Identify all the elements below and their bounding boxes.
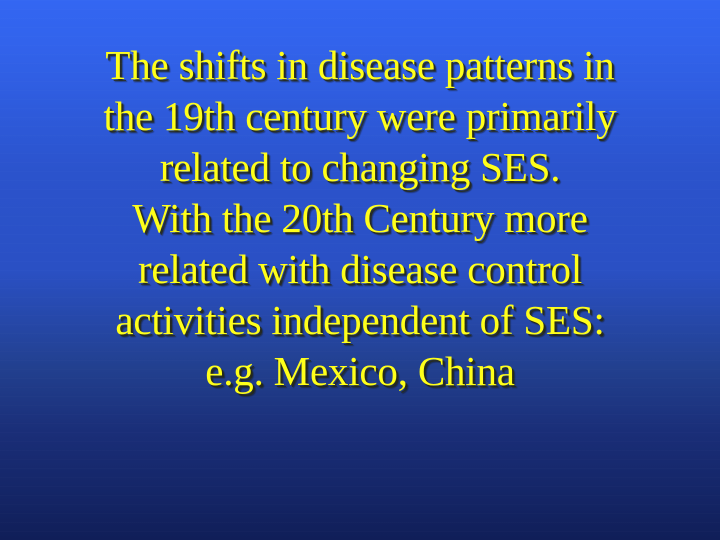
- slide-text-line-2: the 19th century were primarily: [0, 91, 720, 142]
- slide-text-line-3: related to changing SES.: [0, 142, 720, 193]
- slide-body-text: The shifts in disease patterns in the 19…: [0, 40, 720, 397]
- slide-text-line-6: activities independent of SES:: [0, 295, 720, 346]
- slide-text-line-5: related with disease control: [0, 244, 720, 295]
- slide-text-line-4: With the 20th Century more: [0, 193, 720, 244]
- slide-text-line-7: e.g. Mexico, China: [0, 346, 720, 397]
- presentation-slide: The shifts in disease patterns in the 19…: [0, 0, 720, 540]
- slide-text-line-1: The shifts in disease patterns in: [0, 40, 720, 91]
